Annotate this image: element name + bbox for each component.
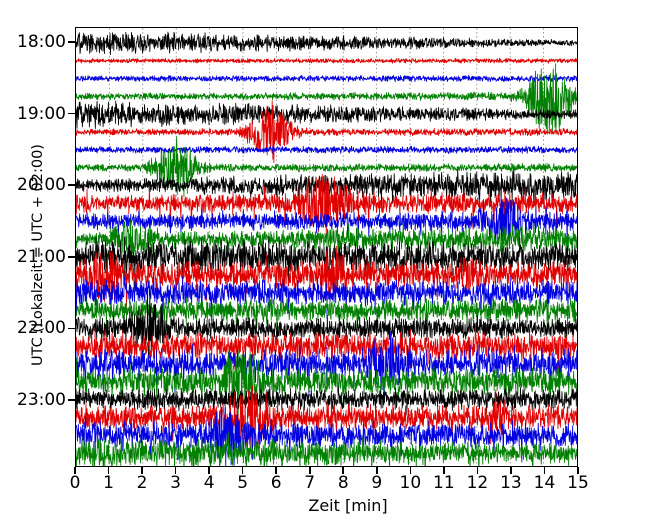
- plot-area: [75, 27, 578, 467]
- x-axis-label-wrapper: Zeit [min]: [0, 496, 650, 515]
- x-tick-label-8: 8: [338, 473, 349, 493]
- x-tick-label-6: 6: [271, 473, 282, 493]
- y-tick-label-1900: 19:00: [17, 104, 66, 124]
- trace-1830: [76, 75, 577, 82]
- x-tick-label-2: 2: [137, 473, 148, 493]
- x-axis-label: Zeit [min]: [308, 496, 387, 515]
- x-tick-label-0: 0: [70, 473, 81, 493]
- x-tick-label-5: 5: [237, 473, 248, 493]
- y-tick-label-2000: 20:00: [17, 175, 66, 195]
- trace-1845: [76, 64, 577, 134]
- x-tick-label-14: 14: [534, 473, 556, 493]
- x-tick-label-15: 15: [567, 473, 589, 493]
- trace-1930: [76, 146, 577, 153]
- y-tick-label-2200: 22:00: [17, 318, 66, 338]
- y-tick-label-1800: 18:00: [17, 32, 66, 52]
- x-tick-label-12: 12: [467, 473, 489, 493]
- x-tick-label-13: 13: [500, 473, 522, 493]
- trace-1815: [76, 58, 577, 63]
- x-tick-label-7: 7: [304, 473, 315, 493]
- trace-1800: [76, 32, 577, 55]
- x-tick-label-9: 9: [371, 473, 382, 493]
- y-tick-label-2100: 21:00: [17, 247, 66, 267]
- x-tick-label-4: 4: [204, 473, 215, 493]
- x-tick-label-1: 1: [103, 473, 114, 493]
- x-tick-label-3: 3: [170, 473, 181, 493]
- trace-1900: [76, 101, 577, 129]
- seismogram-figure: UTC (Lokalzeit = UTC + 02:00) 18:0019:00…: [0, 0, 650, 520]
- x-tick-label-11: 11: [433, 473, 455, 493]
- x-tick-label-10: 10: [400, 473, 422, 493]
- y-tick-label-2300: 23:00: [17, 390, 66, 410]
- waveform-traces: [76, 28, 577, 466]
